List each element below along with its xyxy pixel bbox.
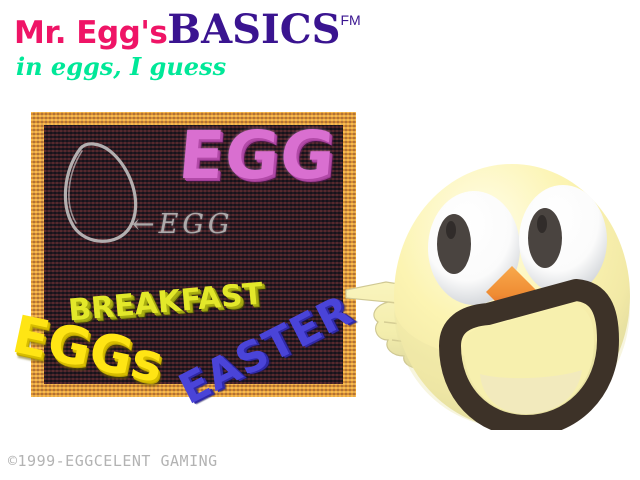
logo-main: BASICS [167,6,340,53]
chalk-arrow-label: ←EGG [132,209,233,240]
logo-wordmark: Mr. Egg'sBASICSFM [14,6,361,53]
blackboard: ←EGG EGG BREAKFAST EGGs EASTER [31,112,356,397]
egg-character-art [330,130,640,430]
game-logo: Mr. Egg'sBASICSFM in eggs, I guess [0,0,420,92]
logo-tagline: in eggs, I guess [16,52,226,81]
logo-prefix: Mr. Egg's [14,15,167,51]
mouth [450,290,608,426]
logo-superscript: FM [340,12,360,28]
right-eye [519,185,607,295]
blackboard-surface: ←EGG EGG BREAKFAST EGGs EASTER [44,125,343,384]
copyright-notice: ©1999-EGGCELENT GAMING [8,452,218,470]
wordart-egg: EGG [176,117,339,194]
title-screen: Mr. Egg'sBASICSFM in eggs, I guess ←EGG … [0,0,640,480]
egg-character [330,130,640,430]
